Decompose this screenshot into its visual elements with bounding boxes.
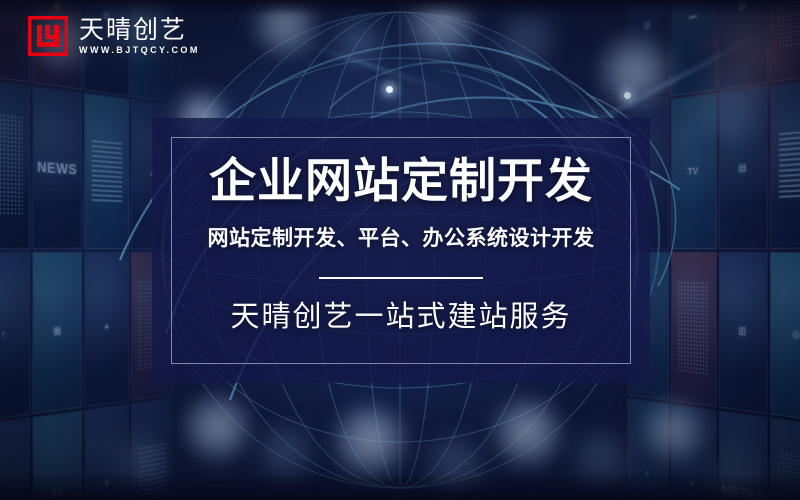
bottom-edge-shadow bbox=[0, 474, 800, 500]
headline-panel: 企业网站定制开发 网站定制开发、平台、办公系统设计开发 天晴创艺一站式建站服务 bbox=[152, 118, 650, 383]
top-edge-shadow bbox=[0, 0, 800, 16]
brand-logo[interactable]: 天晴创艺 WWW.BJTQCY.COM bbox=[28, 16, 200, 57]
brand-name: 天晴创艺 bbox=[79, 16, 200, 43]
promo-banner: ▲🔒▤▭NEWS✦↑▦✶◍TV✳ ▦▬▩◉TV▤🔒▥◎✈◐MEDIA bbox=[0, 0, 800, 500]
panel-tagline: 天晴创艺一站式建站服务 bbox=[230, 299, 571, 333]
page-title: 企业网站定制开发 bbox=[209, 156, 593, 208]
panel-content: 企业网站定制开发 网站定制开发、平台、办公系统设计开发 天晴创艺一站式建站服务 bbox=[152, 118, 650, 383]
tqcy-square-logo-icon bbox=[28, 16, 68, 56]
panel-divider bbox=[319, 277, 483, 279]
panel-subtitle: 网站定制开发、平台、办公系统设计开发 bbox=[208, 225, 595, 251]
brand-website: WWW.BJTQCY.COM bbox=[79, 44, 200, 57]
